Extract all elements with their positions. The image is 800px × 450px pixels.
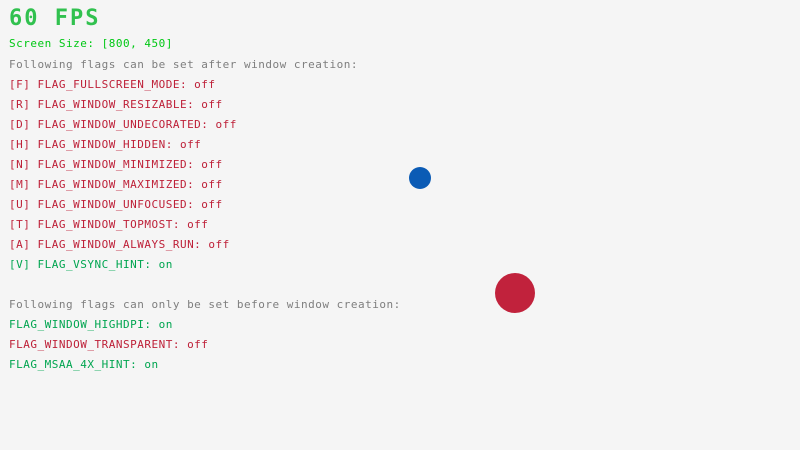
flag-row[interactable]: [T] FLAG_WINDOW_TOPMOST: off: [9, 219, 208, 230]
flag-row[interactable]: FLAG_MSAA_4X_HINT: on: [9, 359, 159, 370]
raylib-window-canvas[interactable]: 60 FPS Screen Size: [800, 450] Following…: [0, 0, 800, 450]
flag-row[interactable]: [F] FLAG_FULLSCREEN_MODE: off: [9, 79, 216, 90]
after-creation-header: Following flags can be set after window …: [9, 59, 358, 70]
flag-row[interactable]: [M] FLAG_WINDOW_MAXIMIZED: off: [9, 179, 223, 190]
flag-row[interactable]: [D] FLAG_WINDOW_UNDECORATED: off: [9, 119, 237, 130]
flag-row[interactable]: [N] FLAG_WINDOW_MINIMIZED: off: [9, 159, 223, 170]
ball-blue-shape: [409, 167, 431, 189]
before-creation-header: Following flags can only be set before w…: [9, 299, 401, 310]
fps-counter: 60 FPS: [9, 8, 100, 30]
flag-row[interactable]: FLAG_WINDOW_TRANSPARENT: off: [9, 339, 208, 350]
flag-row[interactable]: [R] FLAG_WINDOW_RESIZABLE: off: [9, 99, 223, 110]
flag-row[interactable]: [U] FLAG_WINDOW_UNFOCUSED: off: [9, 199, 223, 210]
ball-red-shape: [495, 273, 535, 313]
flag-row[interactable]: [A] FLAG_WINDOW_ALWAYS_RUN: off: [9, 239, 230, 250]
screen-size-label: Screen Size: [800, 450]: [9, 38, 173, 49]
flag-row[interactable]: FLAG_WINDOW_HIGHDPI: on: [9, 319, 173, 330]
flag-row[interactable]: [V] FLAG_VSYNC_HINT: on: [9, 259, 173, 270]
flag-row[interactable]: [H] FLAG_WINDOW_HIDDEN: off: [9, 139, 201, 150]
